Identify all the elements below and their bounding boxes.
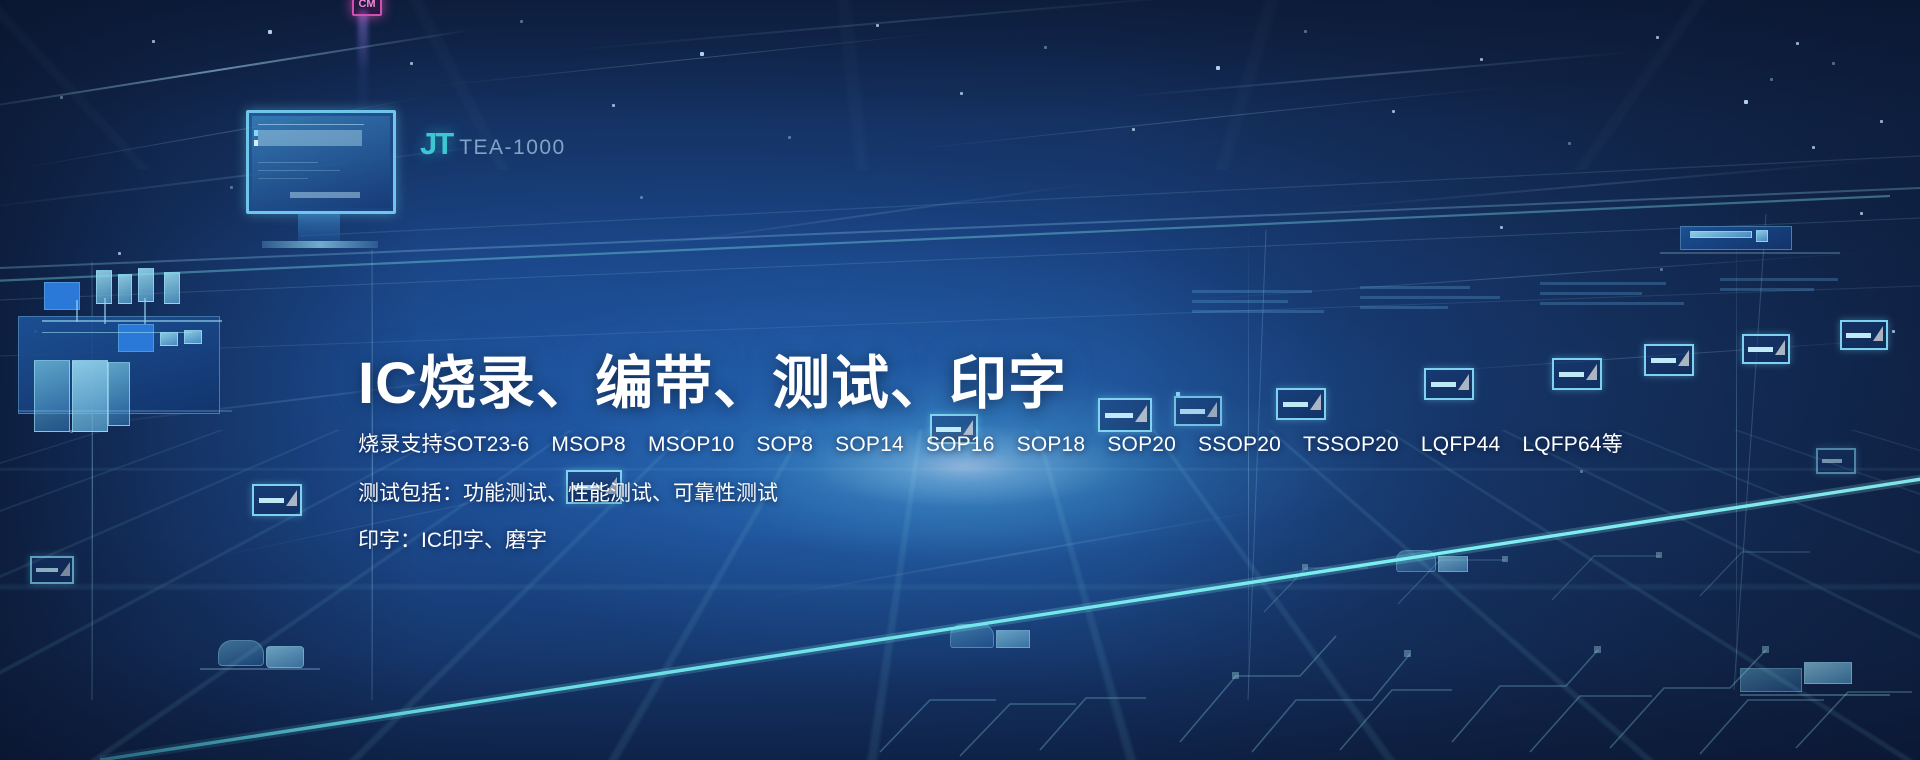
- machine-equipment-bottom-left: [190, 636, 340, 684]
- subtitle-marking: 印字：IC印字、磨字: [358, 530, 547, 551]
- machine-equipment-right: [1660, 226, 1840, 266]
- burn-prefix-text: 烧录支持SOT23-6: [358, 433, 529, 456]
- package-list: MSOP8MSOP10SOP8SOP14SOP16SOP18SOP20SSOP2…: [529, 433, 1623, 456]
- machine-equipment-bottom-right: [1740, 660, 1900, 704]
- machine-equipment-mid-bottom: [940, 620, 1060, 662]
- floor-grid: [0, 430, 1920, 760]
- machine-equipment-left: [18, 268, 238, 438]
- page-title: IC烧录、编带、测试、印字: [358, 355, 1067, 413]
- package-item: SOP14: [835, 433, 904, 456]
- hero-banner: CM JT TEA-1000 IC烧录、编带、测试、印字 烧录支持SOT23-6…: [0, 0, 1920, 760]
- package-item: LQFP44: [1421, 433, 1500, 456]
- package-item: SOP16: [926, 433, 995, 456]
- package-item: SSOP20: [1198, 433, 1281, 456]
- package-item: SOP20: [1107, 433, 1176, 456]
- subtitle-test-scope: 测试包括：功能测试、性能测试、可靠性测试: [358, 483, 778, 504]
- package-item: MSOP8: [551, 433, 626, 456]
- package-item: TSSOP20: [1303, 433, 1399, 456]
- package-item: MSOP10: [648, 433, 734, 456]
- brand-jt-logo: JT: [420, 126, 452, 162]
- equipment-monitor: [246, 110, 396, 214]
- cm-tag-label: CM: [352, 0, 382, 16]
- package-item: SOP18: [1017, 433, 1086, 456]
- package-item: LQFP64等: [1522, 433, 1623, 456]
- subtitle-burn-support: 烧录支持SOT23-6MSOP8MSOP10SOP8SOP14SOP16SOP1…: [358, 434, 1623, 455]
- machine-equipment-right-lower: [1388, 548, 1498, 584]
- equipment-brand-label: JT TEA-1000: [420, 126, 566, 162]
- brand-model-text: TEA-1000: [459, 136, 566, 160]
- top-light-beam: [358, 10, 368, 130]
- package-item: SOP8: [756, 433, 813, 456]
